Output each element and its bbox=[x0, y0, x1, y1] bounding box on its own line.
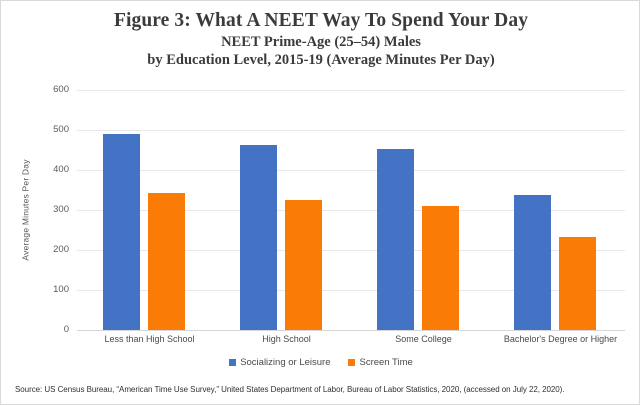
chart-title-block: Figure 3: What A NEET Way To Spend Your … bbox=[1, 9, 640, 69]
y-axis-tick-label: 200 bbox=[23, 245, 69, 255]
bar-socializing-or-leisure[interactable] bbox=[103, 134, 140, 330]
legend-swatch-icon bbox=[229, 359, 236, 366]
legend-swatch-icon bbox=[348, 359, 355, 366]
bar-socializing-or-leisure[interactable] bbox=[377, 149, 414, 330]
x-axis-category-labels: Less than High SchoolHigh SchoolSome Col… bbox=[77, 334, 625, 344]
source-note: Source: US Census Bureau, “American Time… bbox=[15, 385, 630, 394]
chart-subtitle-line-2: by Education Level, 2015-19 (Average Min… bbox=[1, 51, 640, 69]
legend-label: Screen Time bbox=[359, 357, 412, 368]
bar-group bbox=[77, 90, 214, 330]
bar-group bbox=[351, 90, 488, 330]
bar-screen-time[interactable] bbox=[148, 193, 185, 330]
y-axis-tick-label: 300 bbox=[23, 205, 69, 215]
bar-screen-time[interactable] bbox=[559, 237, 596, 330]
x-axis-category-label: Bachelor's Degree or Higher bbox=[488, 334, 625, 344]
plot-area: 0100200300400500600 bbox=[77, 90, 625, 330]
bar-socializing-or-leisure[interactable] bbox=[514, 195, 551, 330]
legend-item[interactable]: Socializing or Leisure bbox=[229, 357, 330, 368]
y-axis-tick-label: 400 bbox=[23, 165, 69, 175]
y-axis-tick-label: 600 bbox=[23, 85, 69, 95]
bar-socializing-or-leisure[interactable] bbox=[240, 145, 277, 330]
x-axis-category-label: Some College bbox=[351, 334, 488, 344]
y-axis-tick-label: 500 bbox=[23, 125, 69, 135]
bar-groups bbox=[77, 90, 625, 330]
bar-group bbox=[214, 90, 351, 330]
y-axis-tick-label: 0 bbox=[23, 325, 69, 335]
chart-legend: Socializing or LeisureScreen Time bbox=[1, 357, 640, 368]
figure-container: Figure 3: What A NEET Way To Spend Your … bbox=[0, 0, 640, 405]
axis-baseline bbox=[77, 330, 625, 331]
page-title: Figure 3: What A NEET Way To Spend Your … bbox=[1, 9, 640, 33]
bar-screen-time[interactable] bbox=[422, 206, 459, 330]
bar-screen-time[interactable] bbox=[285, 200, 322, 330]
y-axis-tick-label: 100 bbox=[23, 285, 69, 295]
chart-subtitle-line-1: NEET Prime-Age (25–54) Males bbox=[1, 33, 640, 51]
legend-item[interactable]: Screen Time bbox=[348, 357, 412, 368]
x-axis-category-label: High School bbox=[214, 334, 351, 344]
x-axis-category-label: Less than High School bbox=[77, 334, 214, 344]
bar-group bbox=[488, 90, 625, 330]
legend-label: Socializing or Leisure bbox=[240, 357, 330, 368]
